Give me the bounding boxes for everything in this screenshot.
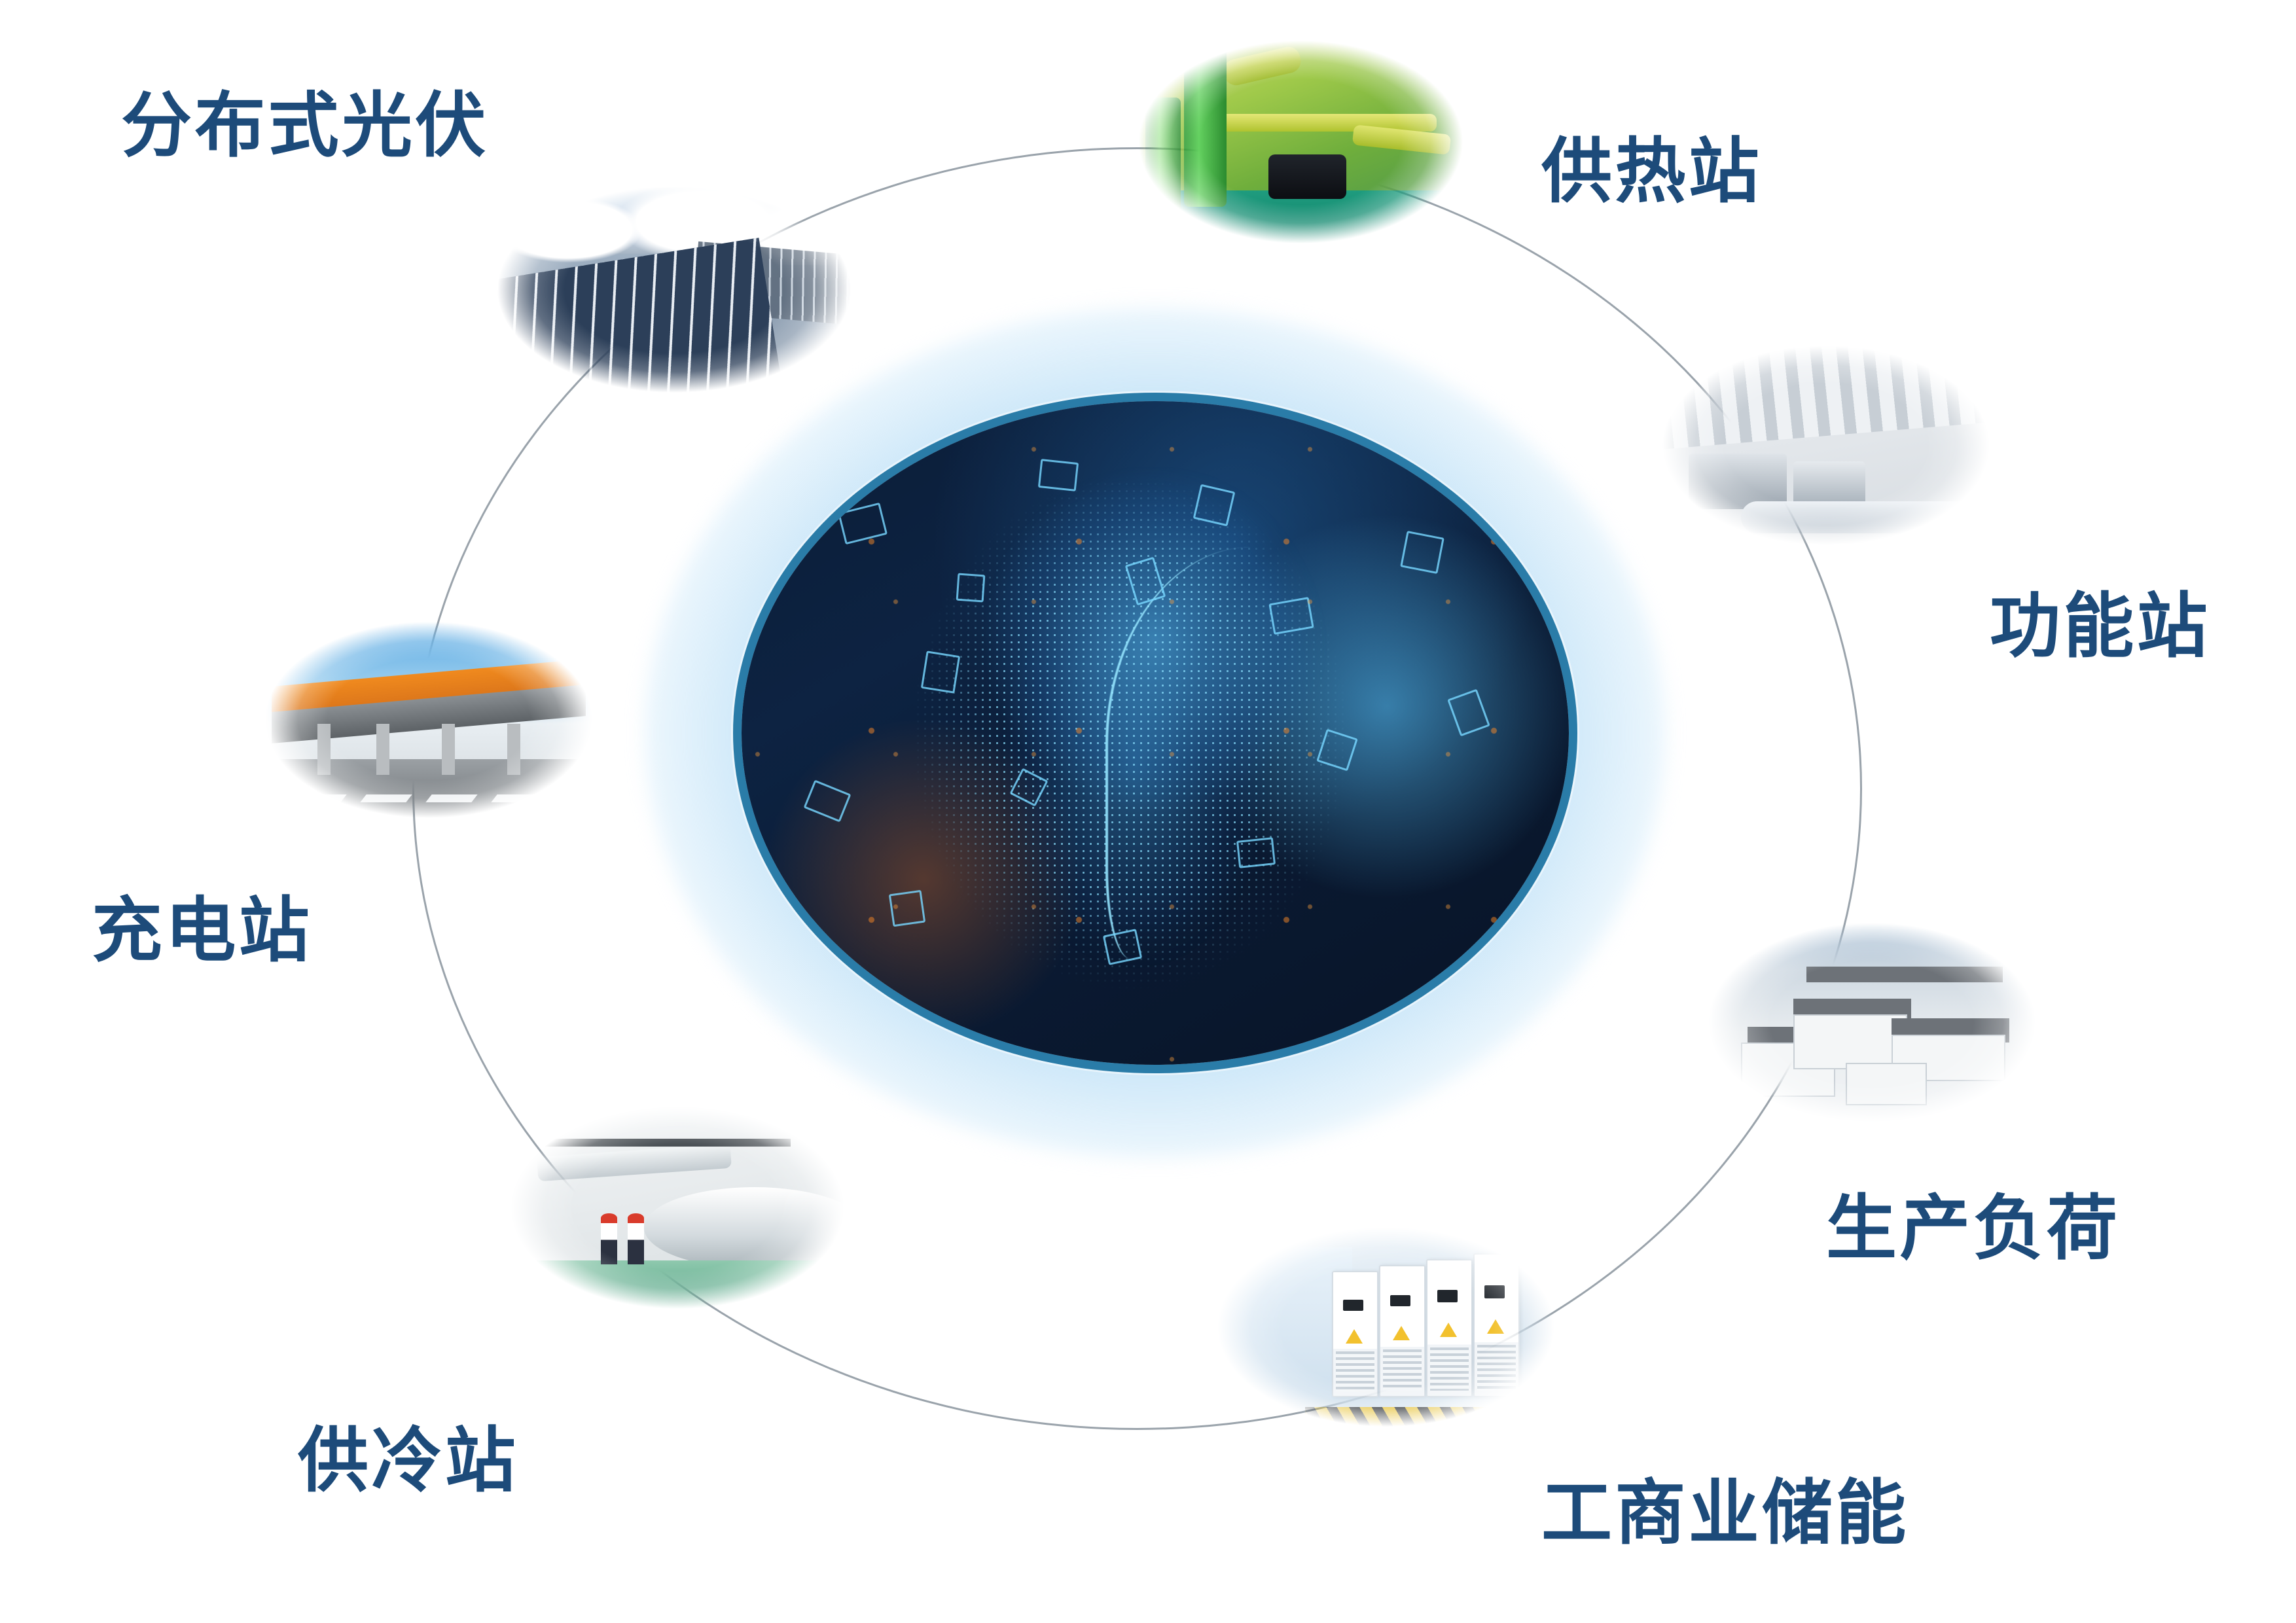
- ai-digital-brain-image: [742, 401, 1569, 1065]
- label-function-station: 功能站: [1990, 569, 2210, 671]
- label-charging-station: 充电站: [92, 874, 312, 976]
- orange-spark-particles: [742, 401, 1569, 1065]
- node-image-heating-station[interactable]: [1139, 41, 1463, 243]
- cooling-station-tank-photo: [511, 1106, 844, 1309]
- node-image-distributed-pv[interactable]: [497, 187, 851, 393]
- label-commercial-ess: 工商业储能: [1541, 1456, 1909, 1558]
- ev-charging-station-photo: [265, 622, 592, 818]
- label-heating-station: 供热站: [1541, 115, 1762, 217]
- heating-station-pipes-photo: [1139, 41, 1463, 243]
- industrial-park-aerial-photo: [1708, 923, 2036, 1122]
- industrial-hall-machinery-photo: [1662, 346, 1990, 545]
- center-node-ai-brain[interactable]: [733, 393, 1577, 1073]
- label-production-load: 生产负荷: [1826, 1171, 2120, 1274]
- rooftop-solar-panels-photo: [497, 187, 851, 393]
- node-image-commercial-ess[interactable]: [1217, 1227, 1554, 1427]
- node-image-charging-station[interactable]: [265, 622, 592, 818]
- label-cooling-station: 供冷站: [298, 1404, 518, 1506]
- node-image-production-load[interactable]: [1708, 923, 2036, 1122]
- label-distributed-pv: 分布式光伏: [121, 69, 489, 171]
- diagram-canvas: 分布式光伏 供热站 功能站 生产负荷: [0, 0, 2296, 1623]
- node-image-function-station[interactable]: [1662, 346, 1990, 545]
- node-image-cooling-station[interactable]: [511, 1106, 844, 1309]
- battery-storage-cabinets-photo: [1217, 1227, 1554, 1427]
